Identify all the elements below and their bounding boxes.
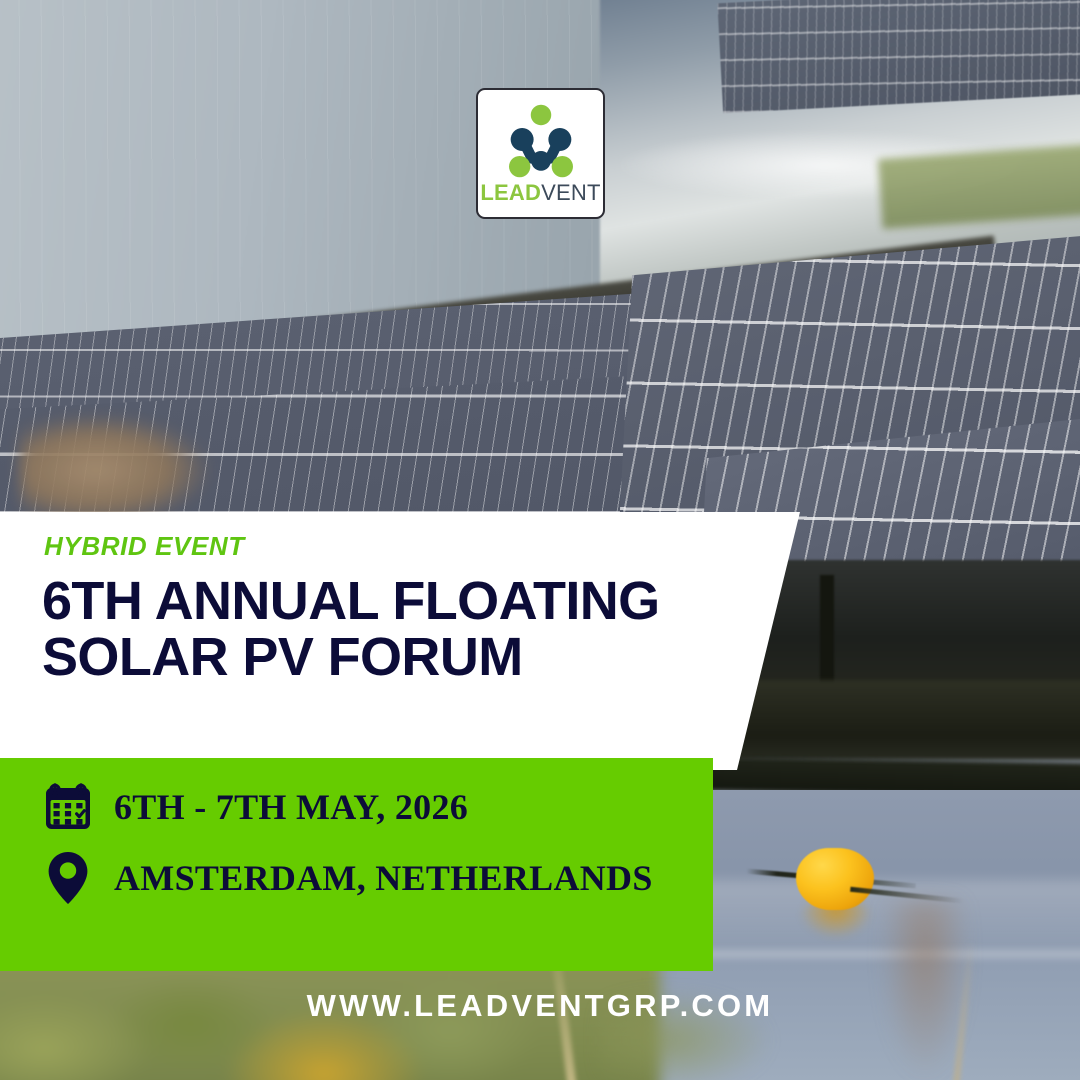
website-url[interactable]: WWW.LEADVENTGRP.COM: [0, 988, 1080, 1024]
calendar-icon: [42, 781, 94, 833]
location-pin-icon: [42, 849, 94, 907]
support-beam: [820, 575, 834, 695]
event-location-label: AMSTERDAM, NETHERLANDS: [114, 857, 653, 899]
event-date-row: 6TH - 7TH MAY, 2026: [42, 781, 468, 833]
event-poster: LEADVENT HYBRID EVENT 6TH ANNUAL FLOATIN…: [0, 0, 1080, 1080]
event-location-row: AMSTERDAM, NETHERLANDS: [42, 849, 653, 907]
event-kicker: HYBRID EVENT: [44, 531, 245, 562]
leadvent-network-logo-icon: [500, 104, 582, 180]
event-title: 6TH ANNUAL FLOATING SOLAR PV FORUM: [42, 573, 702, 685]
event-date-label: 6TH - 7TH MAY, 2026: [114, 786, 468, 828]
leadvent-logo-card[interactable]: LEADVENT: [476, 88, 605, 219]
logo-word-vent: VENT: [541, 180, 600, 205]
distant-solar-rows: [717, 0, 1080, 113]
logo-word-lead: LEAD: [480, 180, 541, 205]
yellow-buoy: [796, 848, 874, 910]
leadvent-wordmark: LEADVENT: [480, 182, 600, 204]
blurred-foreground-object: [20, 415, 210, 525]
